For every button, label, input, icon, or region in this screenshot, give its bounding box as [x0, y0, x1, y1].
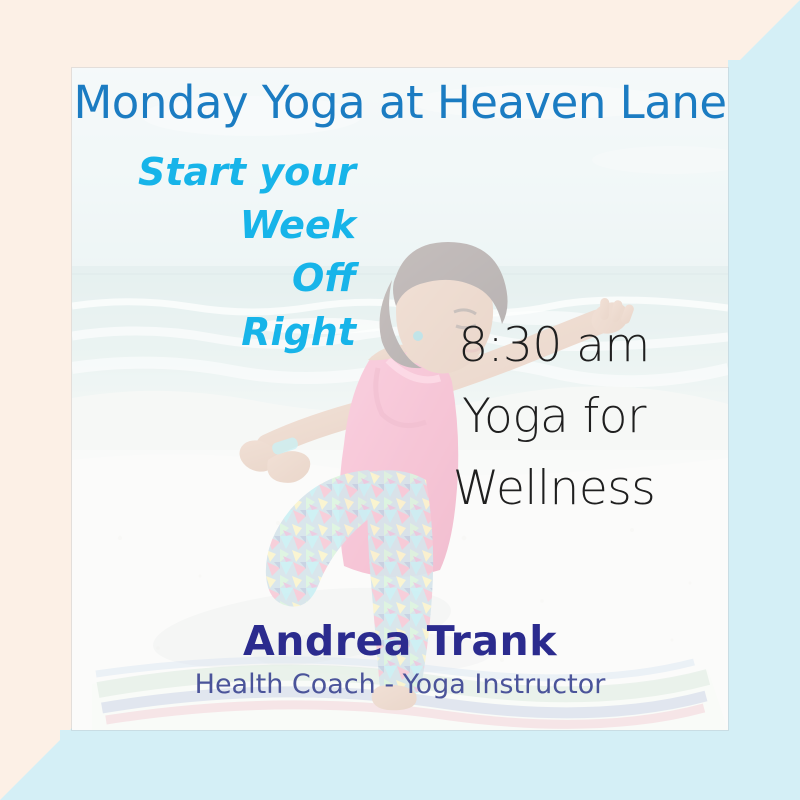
instructor-name: Andrea Trank [72, 619, 728, 664]
session-title-line-2: Wellness [404, 453, 704, 524]
poster-headline: Monday Yoga at Heaven Lane [72, 80, 728, 125]
tagline-line-1: Start your [98, 146, 356, 199]
poster-tagline: Start your Week Off Right [98, 146, 356, 359]
photo-panel: Monday Yoga at Heaven Lane Start your We… [72, 68, 728, 730]
poster-text-layer: Monday Yoga at Heaven Lane Start your We… [72, 68, 728, 730]
instructor-role: Health Coach - Yoga Instructor [72, 668, 728, 702]
session-title-line-1: Yoga for [404, 381, 704, 452]
tagline-line-2: Week [98, 199, 356, 252]
instructor-credit: Andrea Trank Health Coach - Yoga Instruc… [72, 619, 728, 702]
poster-canvas: Monday Yoga at Heaven Lane Start your We… [0, 0, 800, 800]
session-time: 8:30 am [404, 310, 704, 381]
tagline-line-3: Off [98, 252, 356, 305]
session-info: 8:30 am Yoga for Wellness [404, 310, 704, 524]
tagline-line-4: Right [98, 306, 356, 359]
